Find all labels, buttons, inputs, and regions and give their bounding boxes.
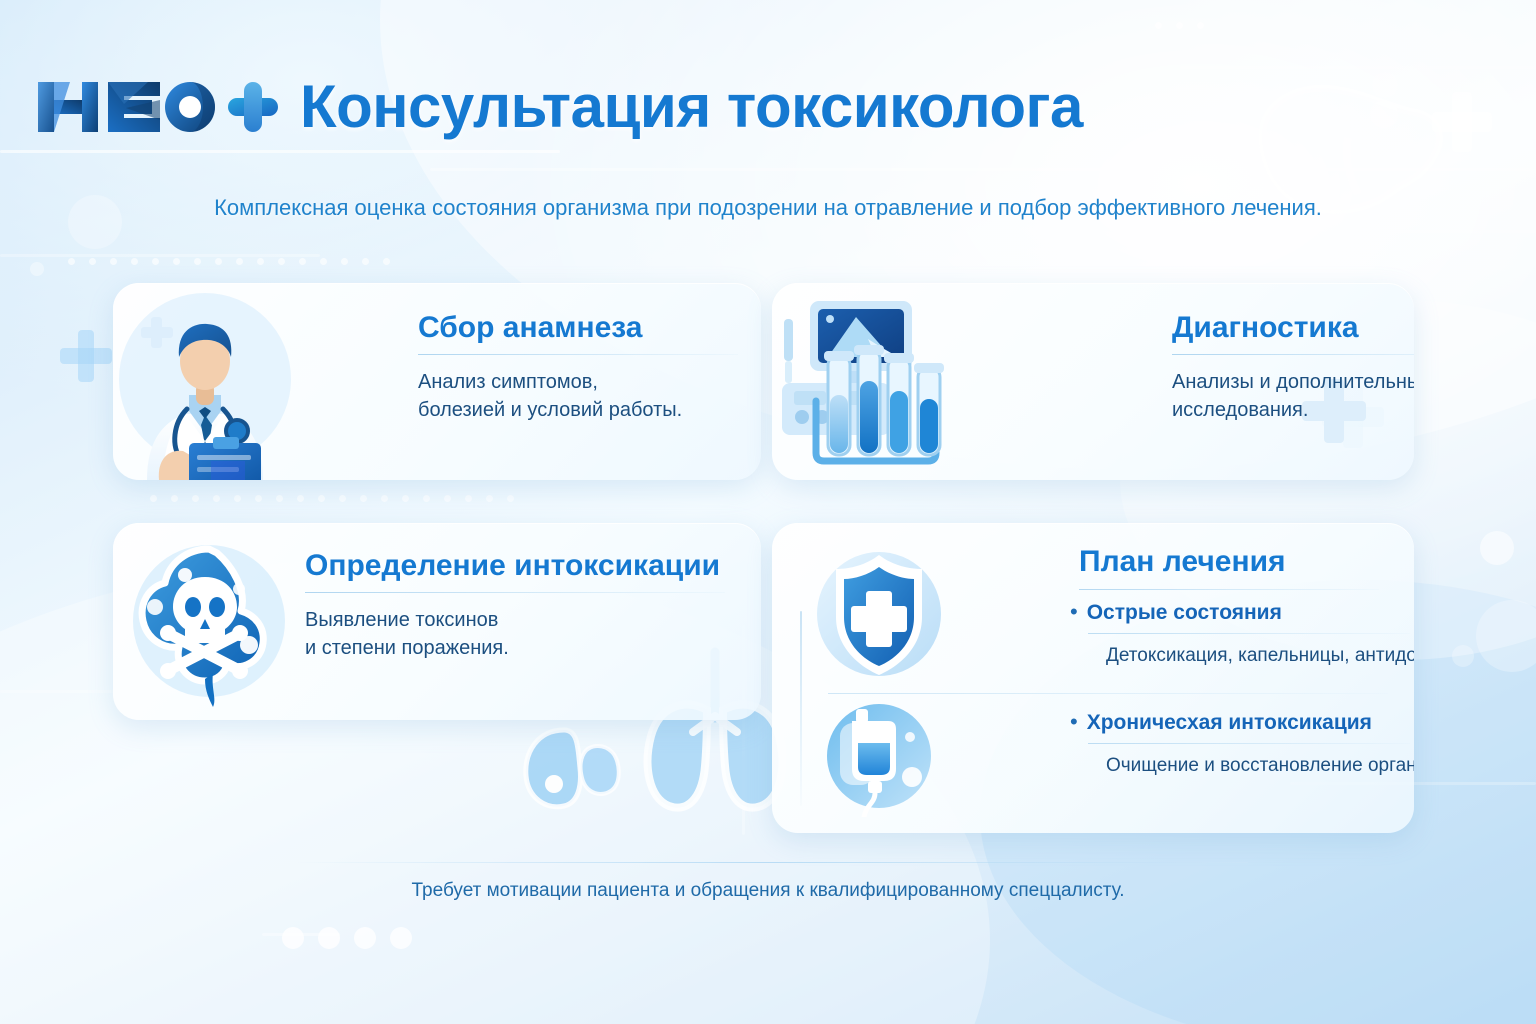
doctor-illustration	[113, 283, 313, 480]
decor-line	[262, 933, 340, 936]
decor-circle	[1476, 600, 1536, 672]
page-title: Консультация токсиколога	[300, 72, 1083, 141]
plan-item-divider	[1088, 743, 1410, 744]
card-anamnesis[interactable]: Сбор анамнеза Анализ симптомов, болезией…	[113, 283, 761, 480]
decor-circle	[1480, 531, 1514, 565]
footer-divider	[288, 862, 1248, 863]
card-desc-line: Анализы и дополнительные	[1172, 368, 1414, 396]
iv-drip-icon	[818, 695, 940, 817]
bullet-icon: •	[1070, 711, 1078, 733]
plan-item-divider	[828, 693, 1388, 694]
decor-dot-row	[1155, 22, 1204, 29]
plan-item-divider	[1088, 633, 1410, 634]
card-divider	[1079, 589, 1379, 590]
decor-line	[1180, 66, 1536, 69]
card-desc-line: исследования.	[1172, 396, 1414, 424]
card-desc-line: Анализ симптомов,	[418, 368, 738, 396]
plan-item-acute[interactable]: • Острые состояния Детоксикация, капельн…	[1070, 601, 1410, 667]
decor-line	[0, 150, 560, 153]
poison-skull-icon	[113, 523, 303, 720]
decor-line	[0, 254, 320, 257]
card-desc-line: болезией и условий работы.	[418, 396, 738, 424]
plan-item-head: Острые состояния	[1087, 601, 1282, 625]
bullet-icon: •	[1070, 601, 1078, 623]
decor-circle	[1372, 72, 1398, 98]
card-description-anamnesis: Анализ симптомов, болезией и условий раб…	[418, 368, 738, 425]
decor-circle	[1452, 645, 1474, 667]
card-title-intoxication: Определение интоксикации	[305, 549, 725, 583]
plan-spine	[800, 611, 802, 806]
plan-item-head: Хроничесхая интоксикация	[1087, 711, 1372, 735]
medical-cross-icon	[1432, 92, 1492, 152]
card-title-treatment-plan: План лечения	[1079, 545, 1286, 579]
card-diagnostic[interactable]: Диагностика Анализы и дополнительные исс…	[772, 283, 1414, 480]
footer-note: Требует мотивации пациента и обращения к…	[0, 880, 1536, 902]
card-description-intoxication: Выявление токсинов и степени поражения.	[305, 606, 725, 663]
shield-cross-icon	[806, 541, 952, 687]
decor-line	[430, 168, 1536, 171]
decor-dot-row	[150, 495, 514, 502]
card-intoxication[interactable]: Определение интоксикации Выявление токси…	[113, 523, 761, 720]
decor-dot-row	[68, 258, 390, 265]
card-title-anamnesis: Сбор анамнеза	[418, 311, 738, 345]
liver-outline-icon	[1232, 60, 1452, 260]
card-divider	[305, 592, 725, 593]
plan-item-chronic[interactable]: • Хроничесхая интоксикация Очищение и во…	[1070, 711, 1410, 777]
decor-line	[1150, 168, 1536, 171]
kidney-outline-icon	[520, 722, 650, 814]
card-title-diagnostic: Диагностика	[1172, 311, 1414, 345]
medical-cross-icon	[60, 330, 112, 382]
card-desc-line: и степени поражения.	[305, 634, 725, 662]
neo-plus-logo	[30, 70, 280, 144]
lab-equipment-illustration	[772, 283, 972, 480]
card-description-diagnostic: Анализы и дополнительные исследования.	[1172, 368, 1414, 425]
decor-circle	[30, 262, 44, 276]
page-subtitle: Комплексная оценка состояния организма п…	[0, 195, 1536, 221]
card-divider	[1172, 354, 1414, 355]
card-divider	[418, 354, 738, 355]
card-desc-line: Выявление токсинов	[305, 606, 725, 634]
decor-dot-row	[282, 927, 412, 949]
plan-item-desc: Детоксикация, капельницы, антидоты.	[1106, 645, 1410, 667]
background-decoration-layer	[0, 0, 1536, 1024]
plan-item-desc: Очищение и восстановление организма.	[1106, 755, 1410, 777]
decor-line	[1255, 230, 1536, 233]
card-treatment-plan[interactable]: План лечения • Острые состояния Детоксик…	[772, 523, 1414, 833]
infographic-poster: Консультация токсиколога Комплексная оце…	[0, 0, 1536, 1024]
